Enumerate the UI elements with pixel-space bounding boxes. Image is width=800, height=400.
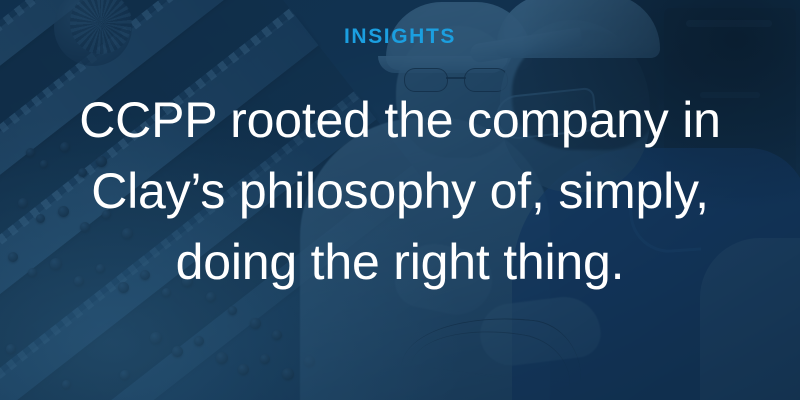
- headline-line-1: CCPP rooted the company in: [29, 85, 771, 156]
- page-title: CCPP rooted the company in Clay’s philos…: [29, 85, 771, 298]
- eyebrow-label: INSIGHTS: [344, 26, 456, 47]
- insights-quote-card: INSIGHTS CCPP rooted the company in Clay…: [0, 0, 800, 400]
- headline-line-3: doing the right thing.: [29, 227, 771, 298]
- headline-line-2: Clay’s philosophy of, simply,: [29, 156, 771, 227]
- card-content: INSIGHTS CCPP rooted the company in Clay…: [0, 0, 800, 400]
